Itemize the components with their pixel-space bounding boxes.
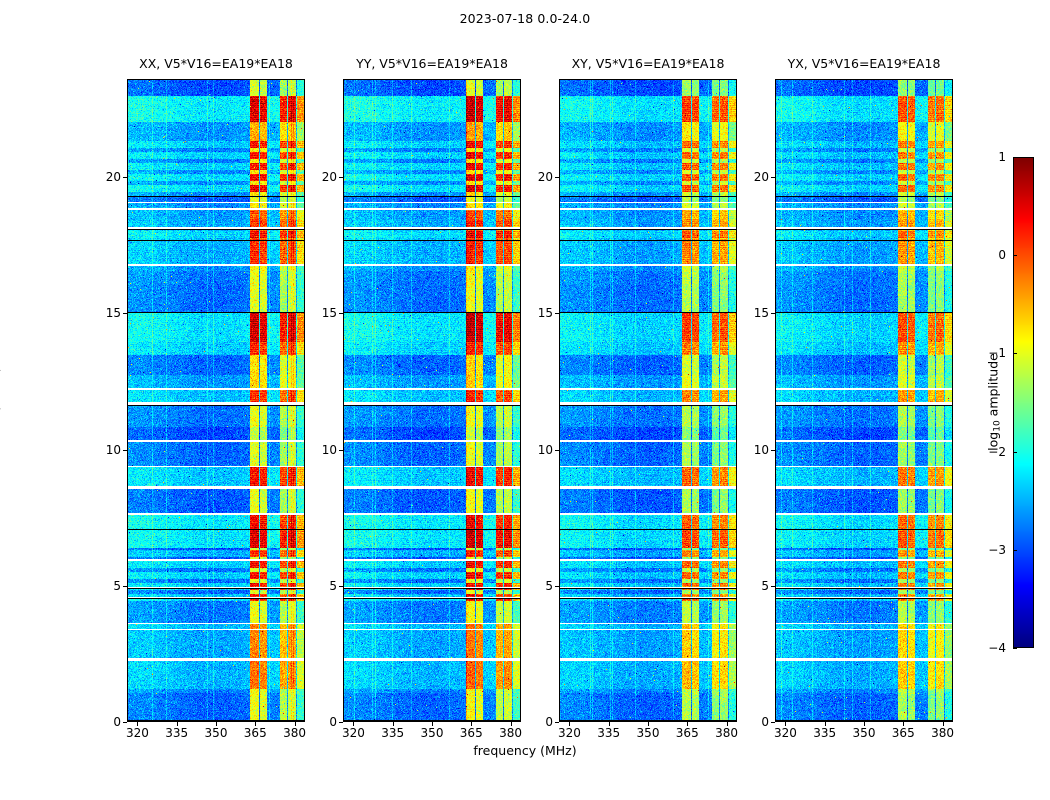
figure-suptitle: 2023-07-18 0.0-24.0: [0, 11, 1050, 26]
x-tick-label: 350: [205, 726, 228, 740]
panel-xx[interactable]: XX, V5*V16=EA19*EA18: [127, 79, 305, 722]
figure-canvas: 2023-07-18 0.0-24.0 XX, V5*V16=EA19*EA18…: [0, 0, 1050, 800]
x-tick-label: 380: [283, 726, 306, 740]
x-tick-label: 335: [813, 726, 836, 740]
y-tick-label: 10: [313, 443, 337, 457]
y-tick-label: 5: [745, 579, 769, 593]
colorbar-tick-mark: [1013, 550, 1017, 551]
y-tick-mark: [123, 722, 127, 723]
y-tick-label: 15: [97, 306, 121, 320]
colorbar-tick-mark: [1013, 452, 1017, 453]
x-tick-label: 335: [381, 726, 404, 740]
y-tick-mark: [339, 722, 343, 723]
y-tick-mark: [123, 450, 127, 451]
y-tick-mark: [339, 313, 343, 314]
panel-yx-title: YX, V5*V16=EA19*EA18: [788, 56, 941, 71]
x-tick-label: 365: [676, 726, 699, 740]
panel-yy-title: YY, V5*V16=EA19*EA18: [356, 56, 508, 71]
y-tick-mark: [339, 450, 343, 451]
y-tick-label: 5: [97, 579, 121, 593]
y-tick-label: 10: [745, 443, 769, 457]
y-tick-mark: [555, 586, 559, 587]
y-tick-mark: [771, 586, 775, 587]
y-tick-mark: [771, 177, 775, 178]
panel-yy[interactable]: YY, V5*V16=EA19*EA18: [343, 79, 521, 722]
y-tick-label: 10: [97, 443, 121, 457]
x-tick-label: 365: [244, 726, 267, 740]
colorbar-label-prefix: log: [986, 432, 1001, 451]
panel-xy[interactable]: XY, V5*V16=EA19*EA18: [559, 79, 737, 722]
x-tick-label: 335: [597, 726, 620, 740]
y-axis-label: UT (hours): [0, 300, 2, 500]
colorbar-tick-label: 1: [998, 150, 1006, 164]
y-tick-mark: [339, 586, 343, 587]
y-tick-label: 5: [313, 579, 337, 593]
y-tick-label: 15: [745, 306, 769, 320]
colorbar-tick-mark: [1013, 157, 1017, 158]
panel-xy-title: XY, V5*V16=EA19*EA18: [572, 56, 725, 71]
panel-yx[interactable]: YX, V5*V16=EA19*EA18: [775, 79, 953, 722]
y-tick-mark: [771, 450, 775, 451]
y-tick-label: 0: [529, 715, 553, 729]
y-tick-label: 10: [529, 443, 553, 457]
x-tick-label: 320: [342, 726, 365, 740]
y-tick-mark: [123, 177, 127, 178]
x-tick-label: 320: [774, 726, 797, 740]
colorbar-tick-mark: [1013, 353, 1017, 354]
y-tick-mark: [123, 586, 127, 587]
y-tick-mark: [771, 722, 775, 723]
y-tick-mark: [555, 313, 559, 314]
colorbar-label-sub: 10: [993, 420, 1003, 431]
x-tick-label: 365: [460, 726, 483, 740]
x-tick-label: 335: [165, 726, 188, 740]
colorbar-tick-label: −3: [988, 543, 1006, 557]
y-tick-mark: [771, 313, 775, 314]
y-tick-mark: [555, 722, 559, 723]
colorbar-label: log10 amplitude: [986, 292, 1001, 512]
x-tick-label: 350: [421, 726, 444, 740]
x-tick-label: 380: [931, 726, 954, 740]
y-tick-mark: [555, 450, 559, 451]
colorbar-tick-mark: [1013, 648, 1017, 649]
y-tick-label: 15: [529, 306, 553, 320]
colorbar-tick-label: −4: [988, 641, 1006, 655]
x-tick-label: 365: [892, 726, 915, 740]
panel-xx-title: XX, V5*V16=EA19*EA18: [139, 56, 293, 71]
x-tick-label: 320: [558, 726, 581, 740]
y-tick-label: 5: [529, 579, 553, 593]
colorbar[interactable]: [1013, 157, 1034, 648]
y-tick-label: 0: [745, 715, 769, 729]
colorbar-tick-label: 0: [998, 248, 1006, 262]
x-tick-label: 350: [853, 726, 876, 740]
y-tick-label: 20: [313, 170, 337, 184]
y-tick-label: 0: [313, 715, 337, 729]
y-tick-label: 15: [313, 306, 337, 320]
y-tick-mark: [555, 177, 559, 178]
x-axis-label: frequency (MHz): [0, 743, 1050, 758]
y-tick-label: 20: [745, 170, 769, 184]
y-tick-mark: [339, 177, 343, 178]
colorbar-label-suffix: amplitude: [986, 353, 1001, 420]
x-tick-label: 350: [637, 726, 660, 740]
colorbar-tick-mark: [1013, 255, 1017, 256]
x-tick-label: 380: [499, 726, 522, 740]
x-tick-label: 380: [715, 726, 738, 740]
y-tick-label: 20: [529, 170, 553, 184]
y-tick-label: 0: [97, 715, 121, 729]
y-tick-mark: [123, 313, 127, 314]
y-tick-label: 20: [97, 170, 121, 184]
x-tick-label: 320: [126, 726, 149, 740]
